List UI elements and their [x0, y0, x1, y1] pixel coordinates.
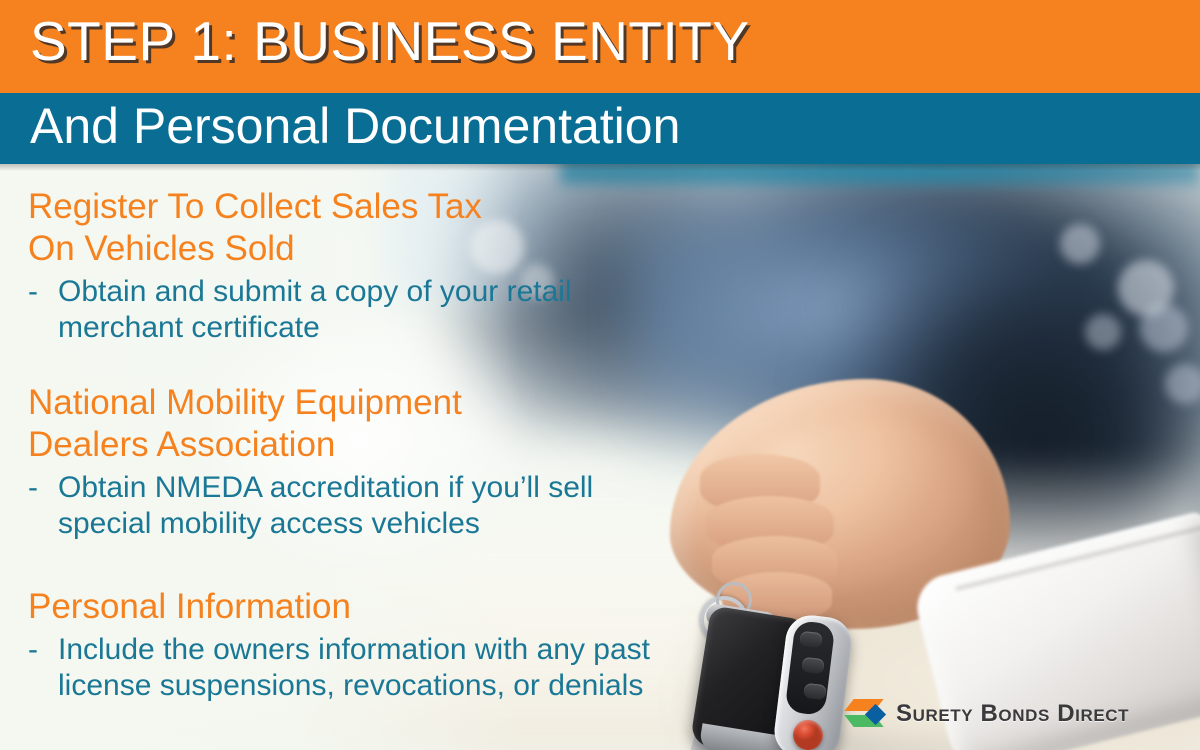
page-title-step: STEP 1: BUSINESS ENTITY: [30, 9, 750, 73]
bullet-text: Include the owners information with any …: [58, 632, 650, 704]
bullet-dash-icon: -: [28, 274, 58, 310]
section-heading: Personal Information: [28, 586, 650, 628]
bullet-dash-icon: -: [28, 470, 58, 506]
section-heading: Register To Collect Sales Tax On Vehicle…: [28, 186, 572, 270]
section-sales-tax: Register To Collect Sales Tax On Vehicle…: [28, 186, 572, 346]
content-area: Register To Collect Sales Tax On Vehicle…: [0, 164, 1200, 750]
brand-logo-text: Surety Bonds Direct: [896, 700, 1129, 728]
page-subtitle: And Personal Documentation: [30, 97, 680, 155]
bullet-item: - Obtain NMEDA accreditation if you’ll s…: [28, 470, 593, 542]
infographic-canvas: STEP 1: BUSINESS ENTITY And Personal Doc…: [0, 0, 1200, 750]
bullet-text: Obtain NMEDA accreditation if you’ll sel…: [58, 470, 593, 542]
bullet-text: Obtain and submit a copy of your retail …: [58, 274, 572, 346]
bullet-item: - Include the owners information with an…: [28, 632, 650, 704]
section-nmeda: National Mobility Equipment Dealers Asso…: [28, 382, 593, 542]
bullet-dash-icon: -: [28, 632, 58, 668]
section-heading: National Mobility Equipment Dealers Asso…: [28, 382, 593, 466]
chevron-logo-icon: [849, 694, 889, 734]
section-personal-information: Personal Information - Include the owner…: [28, 586, 650, 704]
brand-logo[interactable]: Surety Bonds Direct: [849, 692, 1179, 736]
bullet-item: - Obtain and submit a copy of your retai…: [28, 274, 572, 346]
